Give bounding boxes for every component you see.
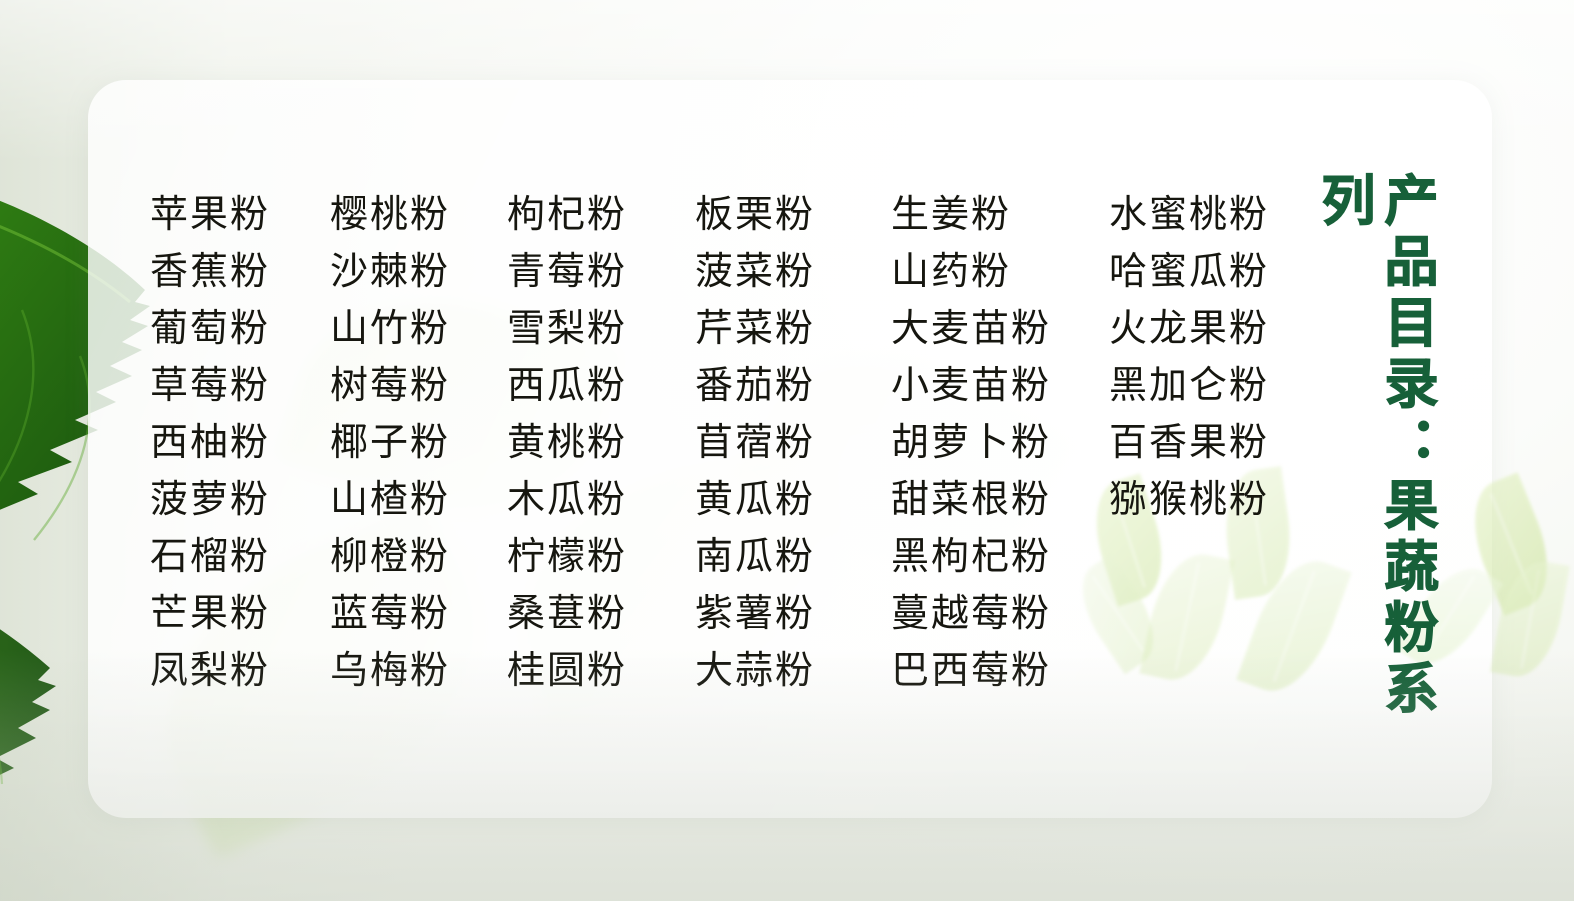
poster-canvas: 苹果粉 樱桃粉 枸杞粉 板栗粉 生姜粉 水蜜桃粉 香蕉粉 沙棘粉 青莓粉 菠菜粉…: [0, 0, 1574, 901]
background-vignette: [0, 0, 1574, 901]
